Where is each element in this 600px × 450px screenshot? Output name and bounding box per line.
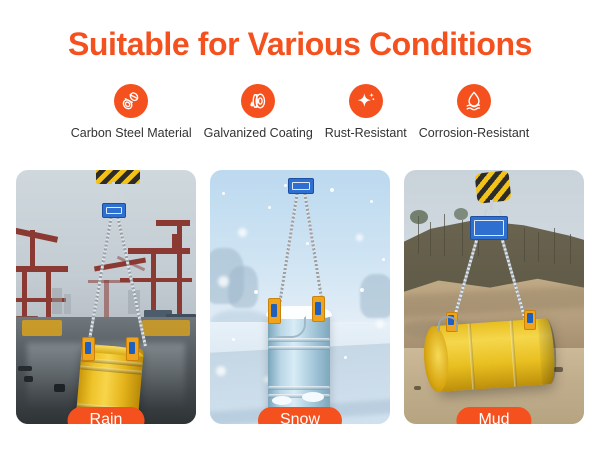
feature-label: Carbon Steel Material bbox=[71, 127, 192, 140]
lifting-clamp-block bbox=[102, 203, 126, 218]
feature-label: Galvanized Coating bbox=[204, 127, 313, 140]
card-badge-snow: Snow bbox=[258, 407, 342, 424]
scene-snowy-road bbox=[210, 170, 390, 424]
steel-pipe-icon bbox=[114, 84, 148, 118]
scene-quarry-dirt bbox=[404, 170, 584, 424]
condition-card-list: Rain bbox=[16, 170, 584, 424]
condition-card-rain[interactable]: Rain bbox=[16, 170, 196, 424]
barrel-clamp-right bbox=[524, 310, 536, 330]
scene-rainy-port bbox=[16, 170, 196, 424]
barrel-clamp-left bbox=[82, 337, 95, 361]
feature-item-rust-resistant: Rust-Resistant bbox=[319, 84, 413, 140]
lifting-clamp-block bbox=[288, 178, 314, 194]
feature-label: Rust-Resistant bbox=[325, 127, 407, 140]
crane-hook-icon bbox=[96, 170, 140, 184]
water-drop-icon bbox=[457, 84, 491, 118]
page-title: Suitable for Various Conditions bbox=[0, 26, 600, 63]
feature-list: Carbon Steel Material Galvanized Coating… bbox=[0, 84, 600, 140]
barrel-clamp-right bbox=[126, 337, 139, 361]
coating-roll-icon bbox=[241, 84, 275, 118]
feature-item-corrosion-resistant: Corrosion-Resistant bbox=[413, 84, 535, 140]
condition-card-mud[interactable]: Mud bbox=[404, 170, 584, 424]
condition-card-snow[interactable]: Snow bbox=[210, 170, 390, 424]
barrel-clamp-right bbox=[312, 296, 325, 322]
sparkle-icon bbox=[349, 84, 383, 118]
crane-hook-icon bbox=[475, 170, 512, 203]
feature-item-carbon-steel-material: Carbon Steel Material bbox=[65, 84, 198, 140]
card-badge-mud: Mud bbox=[456, 407, 531, 424]
feature-item-galvanized-coating: Galvanized Coating bbox=[198, 84, 319, 140]
lifting-clamp-block bbox=[470, 216, 508, 240]
card-badge-rain: Rain bbox=[68, 407, 145, 424]
feature-label: Corrosion-Resistant bbox=[419, 127, 529, 140]
